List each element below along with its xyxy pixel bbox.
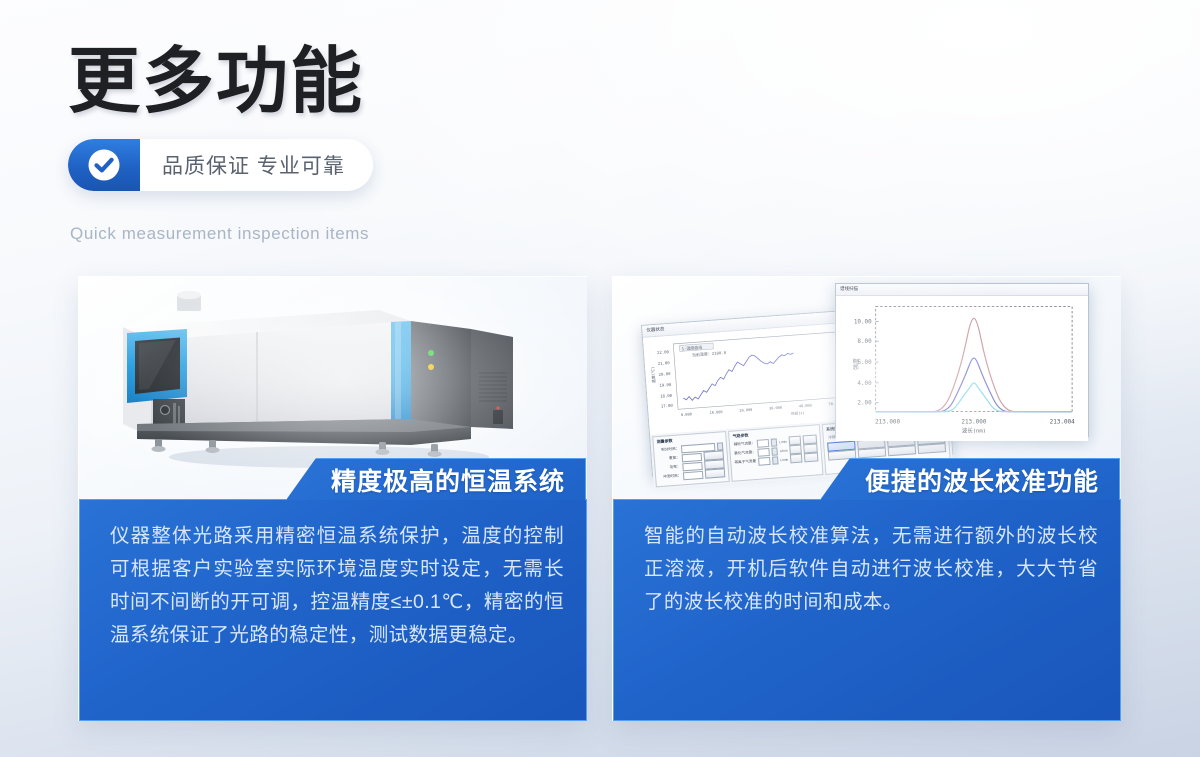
svg-text:4.00: 4.00 — [857, 380, 872, 387]
svg-text:8.00: 8.00 — [857, 338, 872, 345]
window-titlebar-front: 谱线扫描 — [836, 284, 1088, 296]
promo-page: 更多功能 品质保证 专业可靠 Quick measurement inspect… — [0, 0, 1200, 757]
wavelength-peak-chart: 10.00 8.00 6.00 4.00 2.00 强度 — [836, 296, 1088, 441]
svg-text:时间(s): 时间(s) — [791, 410, 805, 416]
svg-text:17.00: 17.00 — [661, 403, 674, 409]
spinner[interactable] — [717, 442, 724, 450]
spinner[interactable] — [771, 438, 778, 446]
svg-text:强度: 强度 — [852, 358, 860, 370]
svg-text:20.00: 20.00 — [658, 371, 671, 377]
feature-title-right: 便捷的波长校准功能 — [865, 462, 1099, 498]
svg-text:0.000: 0.000 — [681, 412, 692, 417]
feature-body-left: 仪器整体光路采用精密恒温系统保护，温度的控制可根据客户实验室实际环境温度实时设定… — [80, 500, 586, 652]
reset-all-button[interactable] — [888, 445, 917, 456]
svg-text:10.00: 10.00 — [854, 318, 872, 325]
svg-text:213.004: 213.004 — [1050, 419, 1075, 426]
feature-title-left: 精度极高的恒温系统 — [331, 462, 565, 498]
window-title-front: 谱线扫描 — [840, 286, 858, 292]
svg-text:18.00: 18.00 — [660, 393, 673, 399]
spinner[interactable] — [772, 447, 779, 455]
value-input[interactable] — [757, 438, 770, 447]
feature-title-ribbon-right: 便捷的波长校准功能 — [820, 458, 1120, 500]
feature-panel-right: 便捷的波长校准功能 智能的自动波长校准算法，无需进行额外的波长校正溶液，开机后软… — [613, 499, 1121, 721]
page-title: 更多功能 — [68, 44, 373, 117]
svg-text:213.000: 213.000 — [875, 419, 900, 426]
unit-label: L/min — [779, 439, 787, 444]
svg-text:213.000: 213.000 — [961, 419, 986, 426]
page-subtitle: Quick measurement inspection items — [70, 224, 369, 244]
badge-label: 品质保证 专业可靠 — [140, 139, 373, 191]
feature-card-wavelength-calibration: 仪器状态 1-温度曲线 当前温度：2100.0 — [612, 276, 1121, 721]
quality-badge: 品质保证 专业可靠 — [68, 139, 373, 191]
calibrate-button[interactable] — [858, 447, 887, 458]
software-window-peak-scan: 谱线扫描 10.00 8.00 6.00 4.00 — [835, 283, 1089, 437]
svg-text:2.00: 2.00 — [857, 400, 872, 407]
exit-button[interactable] — [918, 443, 947, 454]
window-title-back: 仪器状态 — [646, 326, 664, 333]
svg-text:22.00: 22.00 — [657, 349, 670, 355]
feature-card-constant-temperature: 精度极高的恒温系统 仪器整体光路采用精密恒温系统保护，温度的控制可根据客户实验室… — [78, 276, 587, 721]
header-block: 更多功能 品质保证 专业可靠 — [68, 44, 373, 191]
feature-title-ribbon-left: 精度极高的恒温系统 — [286, 458, 586, 500]
row-label: 辅助气流量： — [733, 441, 755, 448]
row-label: 积分时间： — [657, 447, 679, 454]
feature-body-right: 智能的自动波长校准算法，无需进行额外的波长校正溶液，开机后软件自动进行波长校准，… — [614, 500, 1120, 619]
feature-panel-left: 精度极高的恒温系统 仪器整体光路采用精密恒温系统保护，温度的控制可根据客户实验室… — [79, 499, 587, 721]
svg-text:波长(nm): 波长(nm) — [962, 426, 986, 434]
svg-text:21.00: 21.00 — [658, 360, 671, 366]
check-circle-icon — [68, 139, 140, 191]
value-input[interactable] — [758, 447, 771, 456]
unit-label: L/min — [780, 448, 788, 453]
svg-text:19.00: 19.00 — [659, 382, 672, 388]
row-label: 雾化气流量： — [734, 450, 756, 457]
